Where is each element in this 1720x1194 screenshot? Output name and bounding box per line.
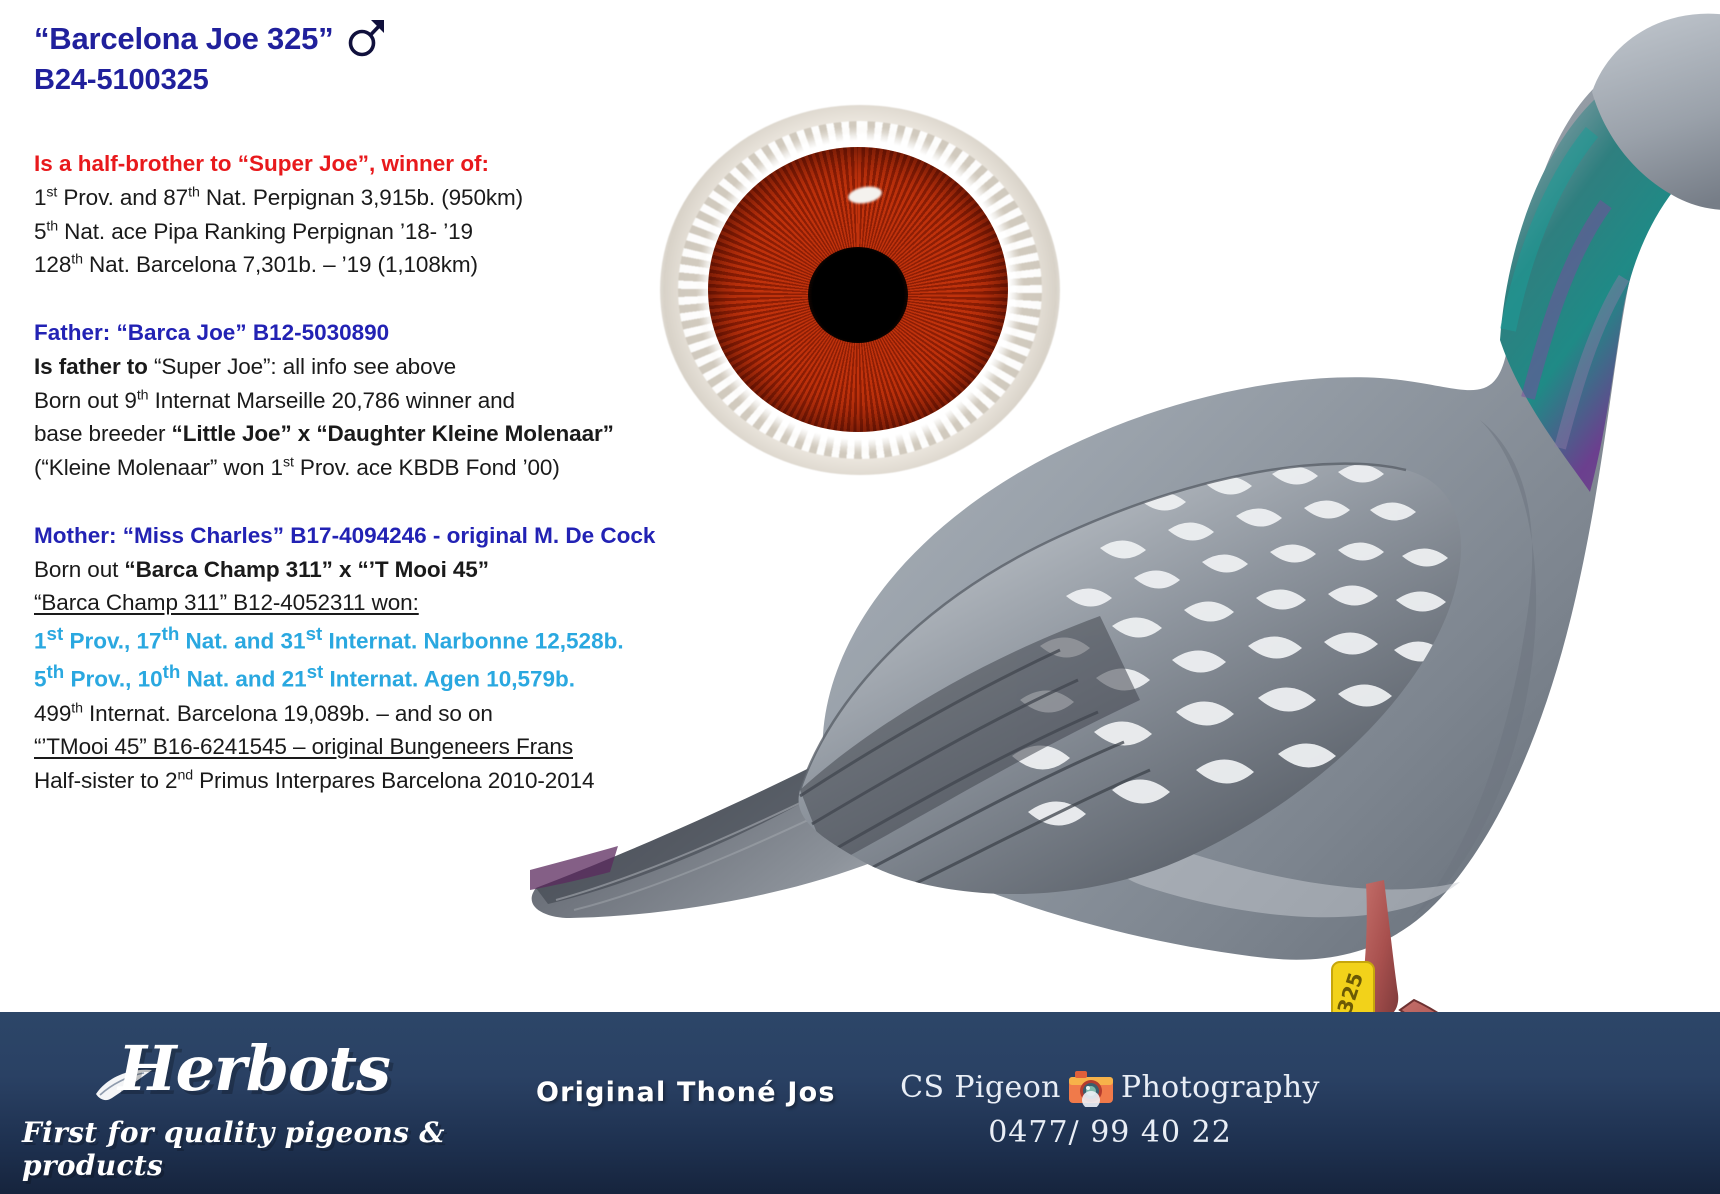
photographer-phone: 0477/ 99 40 22 xyxy=(900,1115,1320,1150)
photographer-name: CS Pigeon xyxy=(900,1070,1061,1105)
camera-icon xyxy=(1065,1067,1117,1107)
footer-bar: Herbots First for quality pigeons & prod… xyxy=(0,1012,1720,1194)
photographer-credit-line: CS Pigeon Photography xyxy=(900,1067,1320,1107)
herbots-tagline: First for quality pigeons & products xyxy=(22,1116,480,1182)
page-title: “Barcelona Joe 325” xyxy=(34,19,333,60)
herbots-logo: Herbots First for quality pigeons & prod… xyxy=(10,1024,480,1184)
original-breeder-credit: Original Thoné Jos xyxy=(536,1077,836,1108)
photographer-credit: CS Pigeon Photography 0477/ 99 40 22 xyxy=(900,1067,1320,1150)
pigeon-photo: 325 xyxy=(500,0,1720,1080)
photography-word: Photography xyxy=(1121,1070,1320,1105)
herbots-wordmark: Herbots xyxy=(118,1032,390,1105)
male-icon xyxy=(347,16,387,58)
pedigree-card: “Barcelona Joe 325” B24-5100325 Is a hal… xyxy=(0,0,1720,1194)
